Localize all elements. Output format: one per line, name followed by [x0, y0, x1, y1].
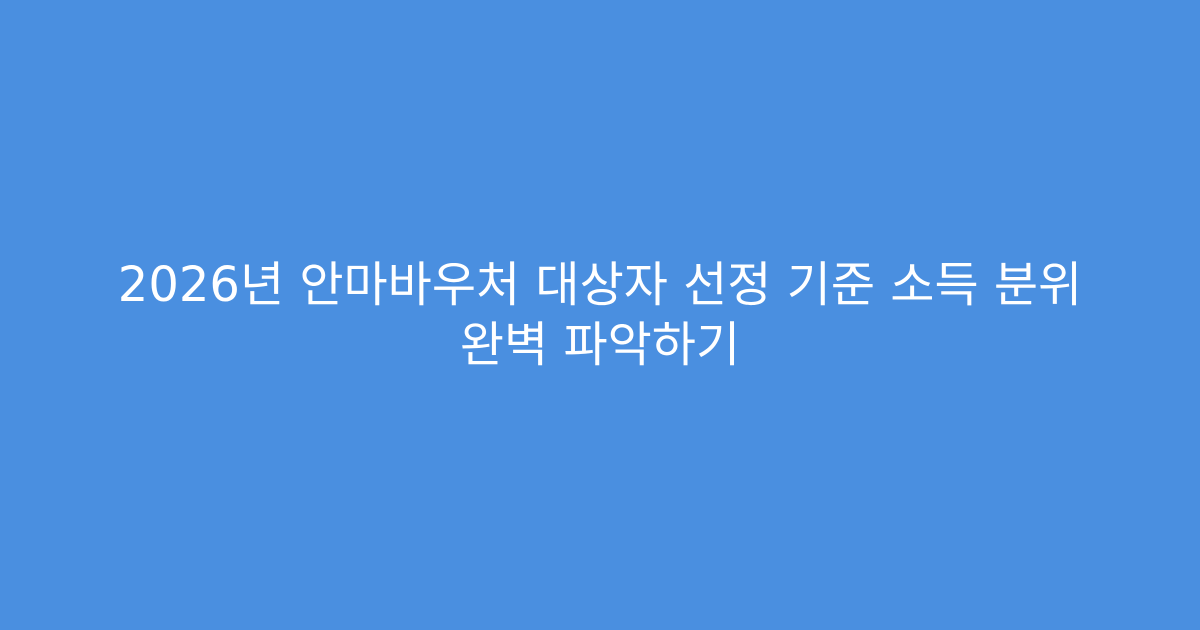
- page-title: 2026년 안마바우처 대상자 선정 기준 소득 분위 완벽 파악하기: [80, 255, 1120, 375]
- headline-block: 2026년 안마바우처 대상자 선정 기준 소득 분위 완벽 파악하기: [80, 255, 1120, 375]
- thumbnail-canvas: 2026년 안마바우처 대상자 선정 기준 소득 분위 완벽 파악하기: [0, 0, 1200, 630]
